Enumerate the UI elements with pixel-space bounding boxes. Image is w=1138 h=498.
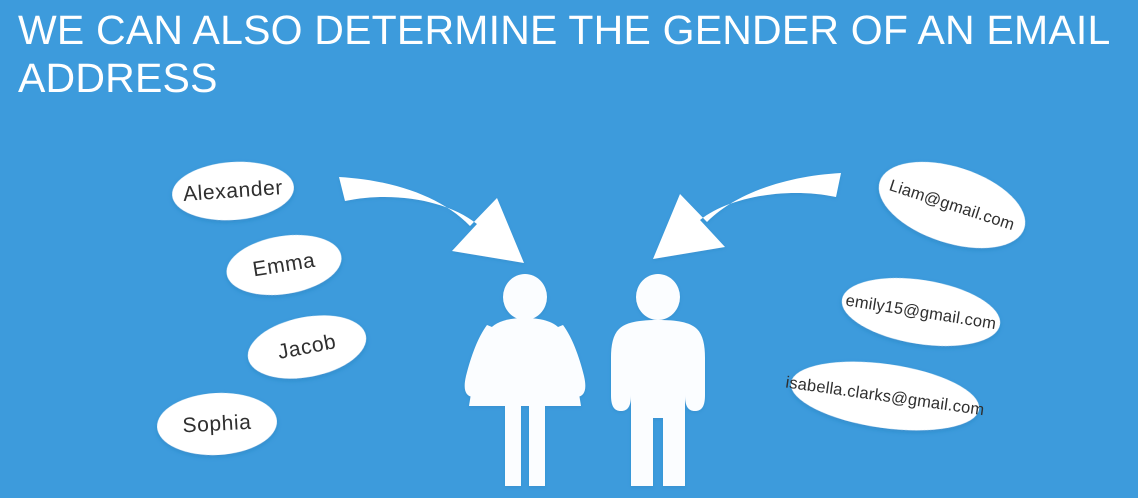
name-bubble-label: Sophia <box>182 411 252 438</box>
arrow-to-female <box>339 177 524 263</box>
name-bubble[interactable]: Emma <box>222 227 346 302</box>
slide-canvas: WE CAN ALSO DETERMINE THE GENDER OF AN E… <box>0 0 1138 498</box>
email-bubble[interactable]: Liam@gmail.com <box>868 145 1036 264</box>
name-bubble-group: Alexander Emma Jacob Sophia <box>155 158 371 458</box>
name-bubble[interactable]: Jacob <box>242 306 371 388</box>
diagram-illustration: Alexander Emma Jacob Sophia Liam@gmail.c… <box>0 0 1138 498</box>
arrow-to-male <box>653 173 841 259</box>
email-bubble[interactable]: isabella.clarks@gmail.com <box>781 350 989 441</box>
male-figure <box>611 274 705 486</box>
name-bubble[interactable]: Sophia <box>155 390 278 458</box>
email-bubble[interactable]: emily15@gmail.com <box>837 268 1005 356</box>
female-figure <box>465 274 586 486</box>
name-bubble[interactable]: Alexander <box>170 158 296 224</box>
